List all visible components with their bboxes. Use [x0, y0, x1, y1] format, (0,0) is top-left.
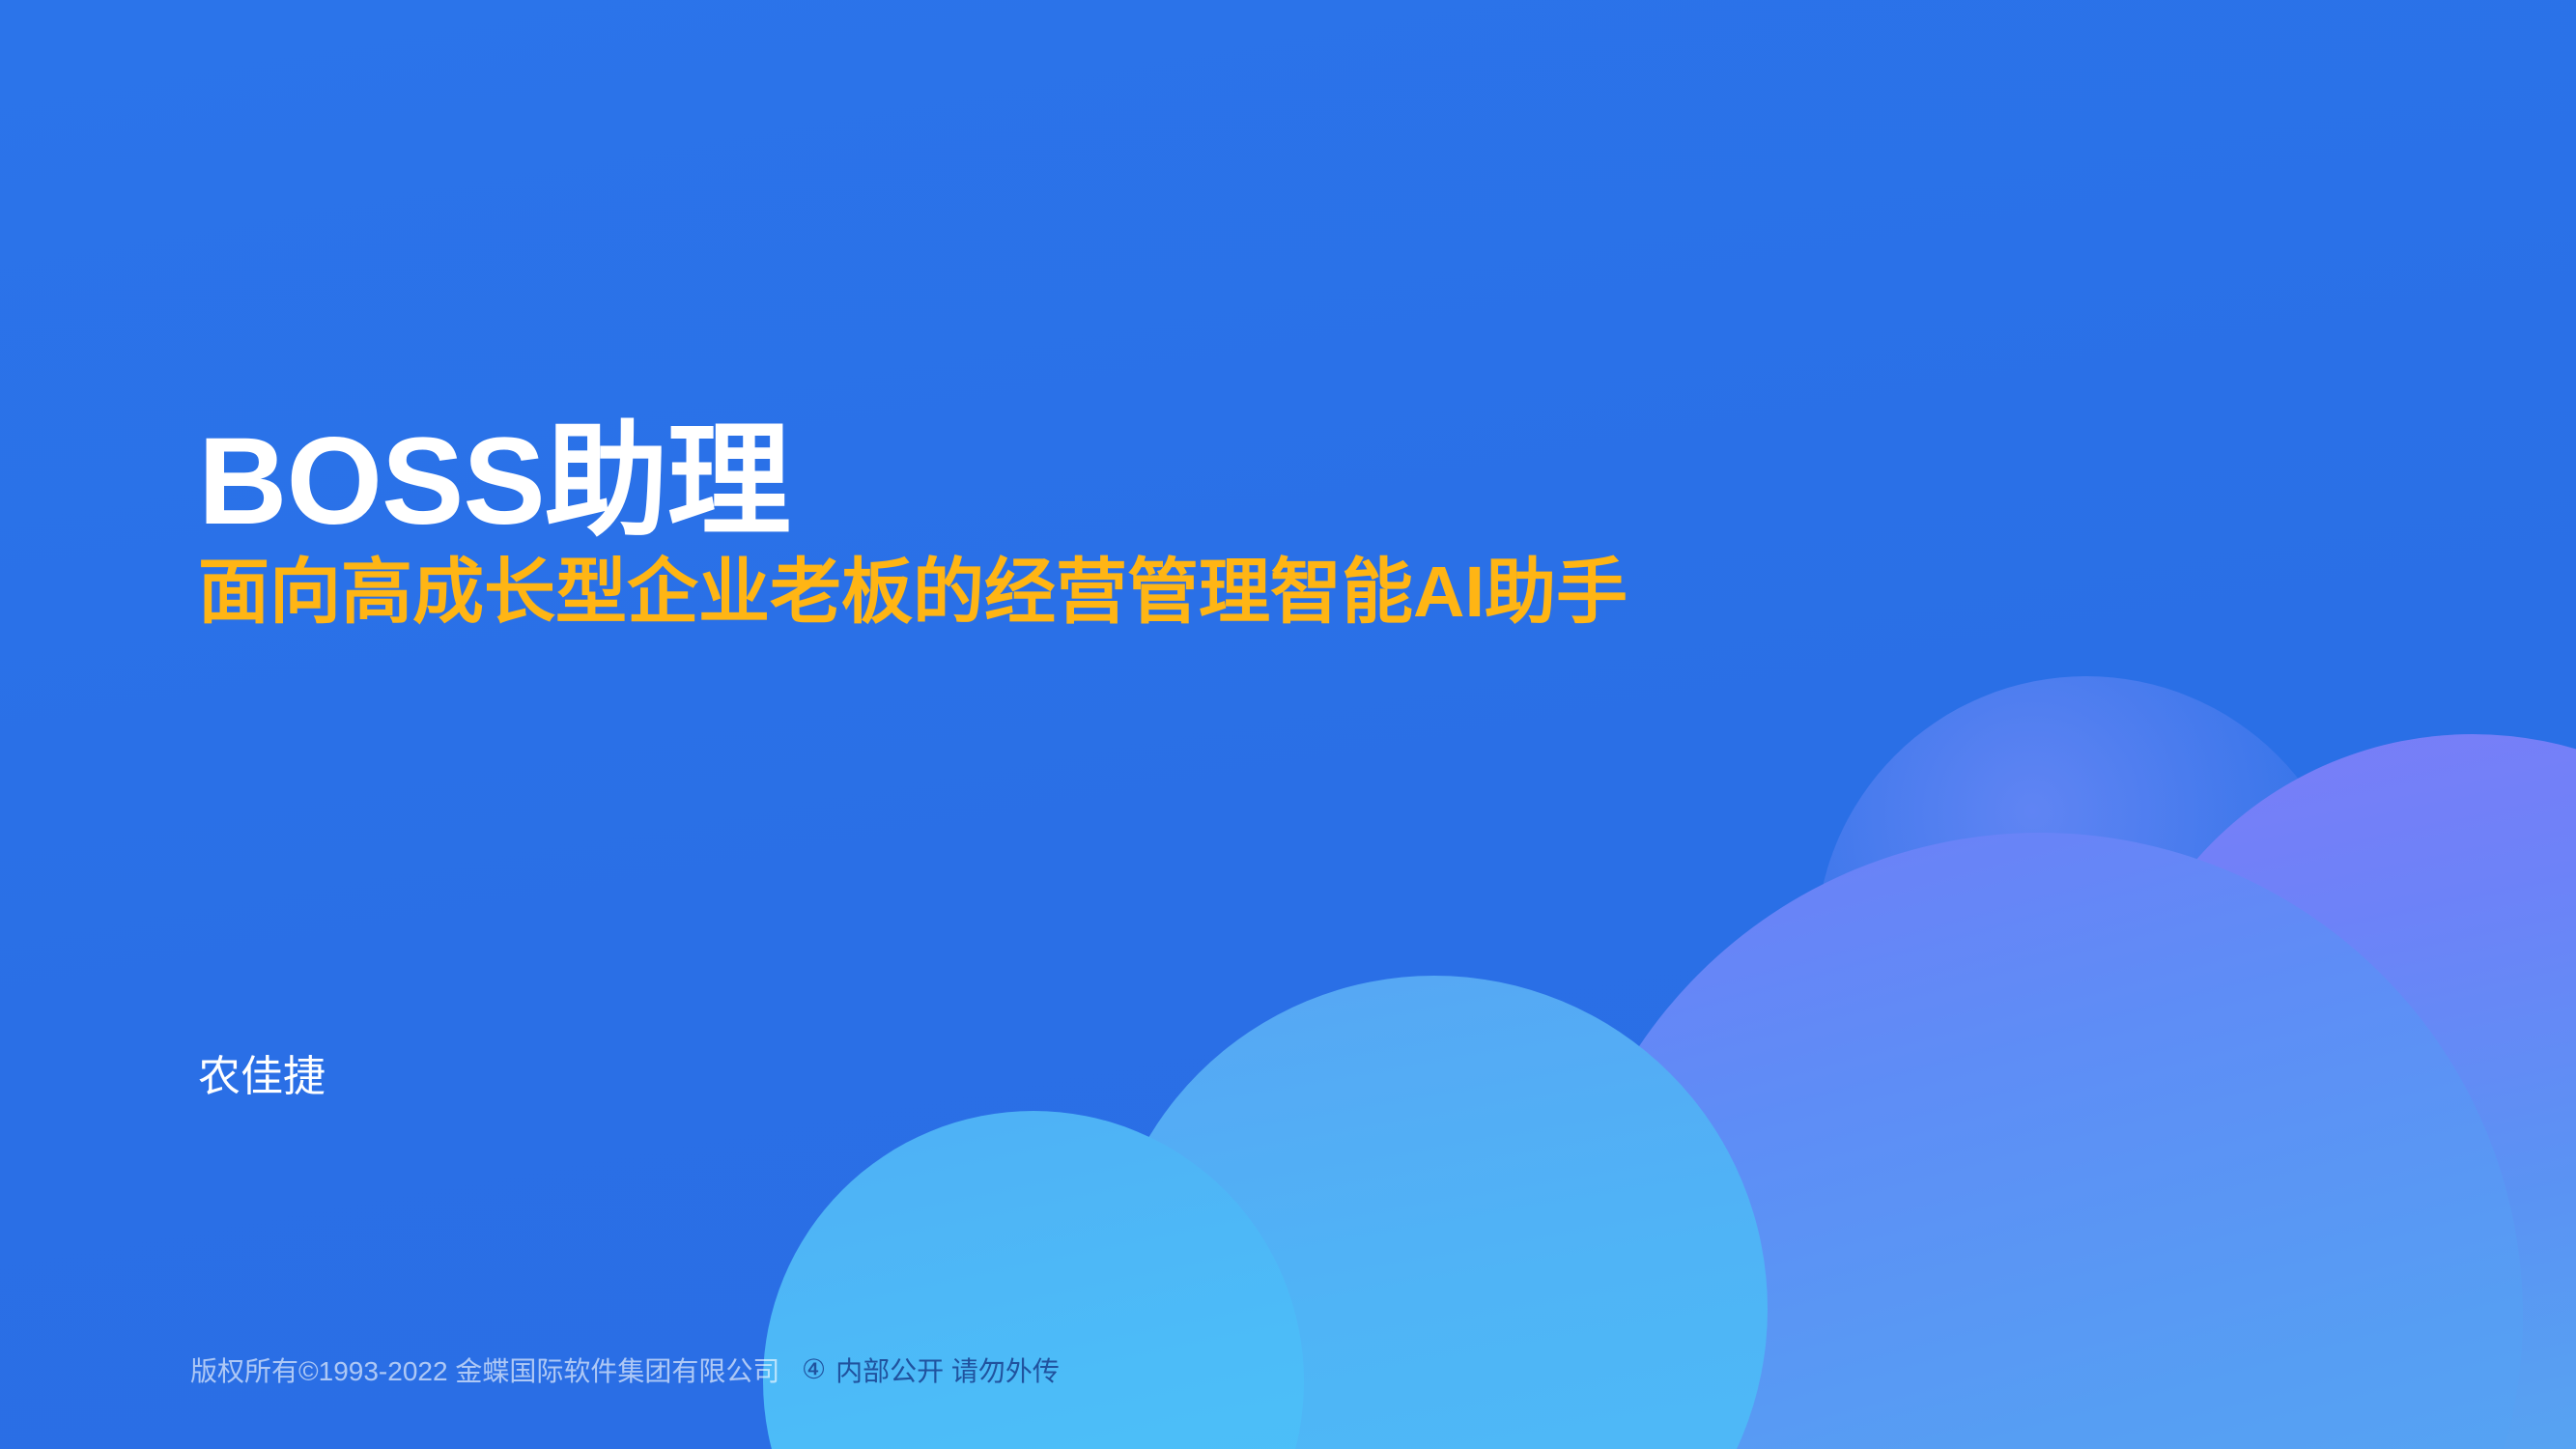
bubble-violet-main-decoration — [1557, 833, 2523, 1449]
bubble-glow-decoration — [1816, 676, 2357, 1217]
confidentiality-badge: ④ 内部公开 请勿外传 — [802, 1350, 1060, 1389]
page-subtitle: 面向高成长型企业老板的经营管理智能AI助手 — [198, 554, 2226, 631]
page-title: BOSS助理 — [198, 417, 2226, 546]
slide-background — [0, 0, 2576, 1449]
bubble-violet-right-decoration — [2106, 734, 2576, 1449]
bubble-left-decoration — [763, 1111, 1304, 1449]
title-block: BOSS助理 面向高成长型企业老板的经营管理智能AI助手 — [198, 417, 2226, 631]
decorative-bubble-cluster — [0, 0, 2576, 1449]
footer-copyright: 版权所有©1993-2022 金蝶国际软件集团有限公司 — [190, 1350, 779, 1389]
bubble-mid-decoration — [1101, 976, 1768, 1449]
confidentiality-label: 内部公开 请勿外传 — [835, 1350, 1060, 1389]
title-slide: BOSS助理 面向高成长型企业老板的经营管理智能AI助手 农佳捷 版权所有©19… — [0, 0, 2576, 1449]
author-name: 农佳捷 — [198, 1041, 326, 1103]
circled-number-four-icon: ④ — [802, 1356, 826, 1383]
